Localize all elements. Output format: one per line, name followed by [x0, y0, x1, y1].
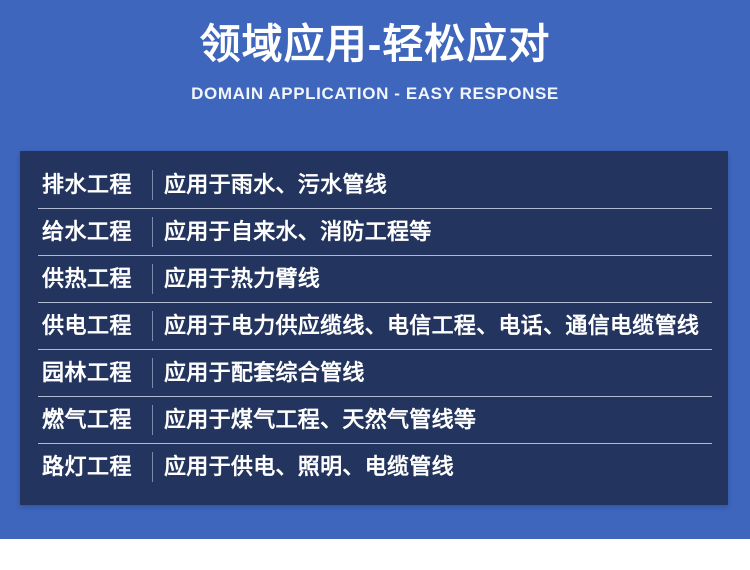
column-divider	[152, 264, 153, 294]
table-row: 给水工程 应用于自来水、消防工程等	[20, 208, 728, 255]
row-label: 园林工程	[20, 360, 152, 386]
row-label: 燃气工程	[20, 407, 152, 433]
column-divider	[152, 452, 153, 482]
row-description: 应用于供电、照明、电缆管线	[153, 454, 728, 480]
row-label: 供热工程	[20, 266, 152, 292]
row-description: 应用于电力供应缆线、电信工程、电话、通信电缆管线	[153, 313, 728, 339]
row-label: 给水工程	[20, 219, 152, 245]
column-divider	[152, 405, 153, 435]
table-row: 路灯工程 应用于供电、照明、电缆管线	[20, 443, 728, 490]
column-divider	[152, 170, 153, 200]
row-description: 应用于雨水、污水管线	[153, 172, 728, 198]
table-row: 供电工程 应用于电力供应缆线、电信工程、电话、通信电缆管线	[20, 302, 728, 349]
application-table: 排水工程 应用于雨水、污水管线 给水工程 应用于自来水、消防工程等 供热工程 应…	[20, 161, 728, 490]
column-divider	[152, 217, 153, 247]
row-description: 应用于自来水、消防工程等	[153, 219, 728, 245]
page-subtitle: DOMAIN APPLICATION - EASY RESPONSE	[0, 69, 750, 104]
table-row: 供热工程 应用于热力臂线	[20, 255, 728, 302]
row-label: 供电工程	[20, 313, 152, 339]
column-divider	[152, 358, 153, 388]
column-divider	[152, 311, 153, 341]
poster-canvas: 领域应用-轻松应对 DOMAIN APPLICATION - EASY RESP…	[0, 0, 750, 539]
row-label: 路灯工程	[20, 454, 152, 480]
application-table-panel: 排水工程 应用于雨水、污水管线 给水工程 应用于自来水、消防工程等 供热工程 应…	[20, 151, 728, 505]
table-row: 燃气工程 应用于煤气工程、天然气管线等	[20, 396, 728, 443]
row-label: 排水工程	[20, 172, 152, 198]
poster-header: 领域应用-轻松应对 DOMAIN APPLICATION - EASY RESP…	[0, 0, 750, 145]
table-row: 排水工程 应用于雨水、污水管线	[20, 161, 728, 208]
row-description: 应用于热力臂线	[153, 266, 728, 292]
table-row: 园林工程 应用于配套综合管线	[20, 349, 728, 396]
row-description: 应用于配套综合管线	[153, 360, 728, 386]
footer-whitespace	[0, 539, 750, 570]
page-title: 领域应用-轻松应对	[0, 0, 750, 69]
row-description: 应用于煤气工程、天然气管线等	[153, 407, 728, 433]
